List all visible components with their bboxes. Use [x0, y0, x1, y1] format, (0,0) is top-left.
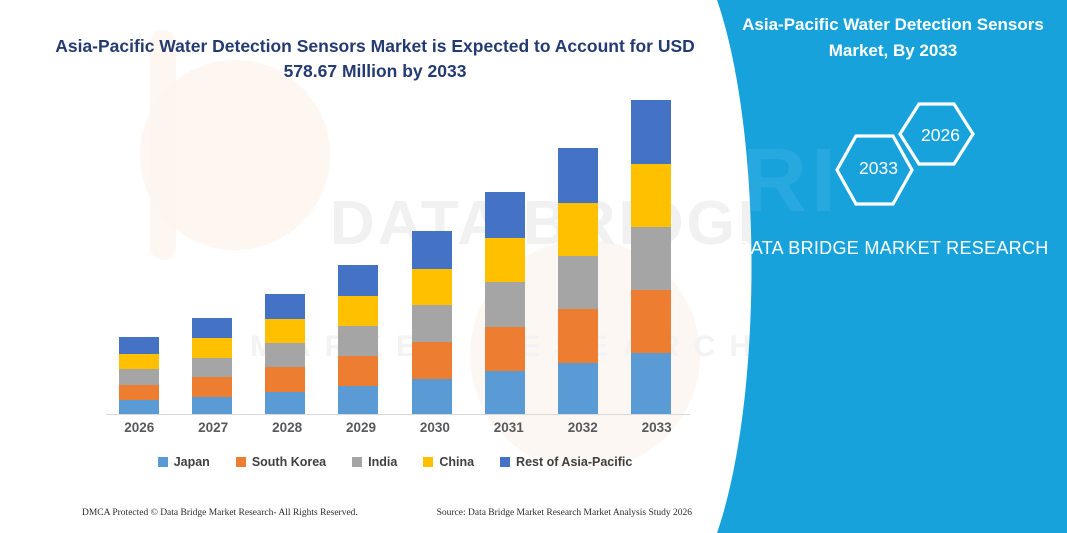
- bar-segment: [338, 296, 378, 326]
- stacked-bar: [412, 231, 452, 414]
- stacked-bar: [558, 148, 598, 414]
- legend-swatch-icon: [352, 457, 362, 467]
- bar-segment: [631, 353, 671, 414]
- bar-segment: [412, 305, 452, 342]
- bar-segment: [631, 100, 671, 164]
- bar-segment: [192, 397, 232, 414]
- stacked-bars: [106, 95, 684, 414]
- bar-segment: [485, 192, 525, 238]
- chart-infographic: DATA BRIDGE MARKET RESEARCH Asia-Pacific…: [0, 0, 1067, 533]
- bar-segment: [485, 371, 525, 414]
- bar-segment: [338, 386, 378, 414]
- bar-segment: [338, 265, 378, 296]
- hexagon-shapes: [811, 98, 1001, 218]
- chart-plot-area: [70, 95, 690, 415]
- x-axis-tick-label: 2028: [254, 420, 321, 435]
- bar-segment: [192, 358, 232, 377]
- legend-label: China: [439, 455, 474, 469]
- legend-label: Japan: [174, 455, 210, 469]
- bar-column: [106, 95, 172, 414]
- legend-label: Rest of Asia-Pacific: [516, 455, 632, 469]
- bar-segment: [558, 363, 598, 414]
- bar-column: [399, 95, 465, 414]
- bar-column: [252, 95, 318, 414]
- bar-segment: [338, 356, 378, 386]
- bar-segment: [412, 342, 452, 379]
- bar-column: [618, 95, 684, 414]
- stacked-bar: [192, 318, 232, 414]
- bar-segment: [558, 148, 598, 202]
- x-axis-tick-label: 2032: [549, 420, 616, 435]
- legend-swatch-icon: [236, 457, 246, 467]
- x-axis-labels: 20262027202820292030203120322033: [106, 420, 690, 435]
- bar-segment: [631, 164, 671, 227]
- footer: DMCA Protected © Data Bridge Market Rese…: [82, 508, 692, 518]
- bar-segment: [558, 203, 598, 256]
- bar-segment: [119, 369, 159, 385]
- chart-title: Asia-Pacific Water Detection Sensors Mar…: [55, 34, 695, 85]
- bar-segment: [338, 326, 378, 356]
- legend-label: South Korea: [252, 455, 326, 469]
- bar-column: [179, 95, 245, 414]
- bar-column: [472, 95, 538, 414]
- stacked-bar: [485, 192, 525, 414]
- footer-copyright: DMCA Protected © Data Bridge Market Rese…: [82, 508, 358, 518]
- bar-segment: [631, 290, 671, 353]
- legend-swatch-icon: [500, 457, 510, 467]
- x-axis-tick-label: 2029: [328, 420, 395, 435]
- legend-swatch-icon: [423, 457, 433, 467]
- bar-segment: [119, 337, 159, 353]
- hexagon-2026-label: 2026: [921, 125, 960, 146]
- x-axis-tick-label: 2031: [476, 420, 543, 435]
- x-axis-tick-label: 2033: [623, 420, 690, 435]
- bar-column: [545, 95, 611, 414]
- bar-segment: [631, 227, 671, 290]
- bar-segment: [265, 294, 305, 319]
- legend-item[interactable]: Japan: [158, 455, 210, 469]
- panel-title: Asia-Pacific Water Detection Sensors Mar…: [733, 12, 1053, 63]
- bar-segment: [558, 309, 598, 362]
- stacked-bar: [265, 294, 305, 414]
- legend-swatch-icon: [158, 457, 168, 467]
- bar-segment: [485, 282, 525, 327]
- bar-segment: [265, 319, 305, 343]
- stacked-bar: [338, 265, 378, 414]
- x-axis-tick-label: 2026: [106, 420, 173, 435]
- stacked-bar: [119, 337, 159, 414]
- bar-column: [325, 95, 391, 414]
- legend-item[interactable]: China: [423, 455, 474, 469]
- legend-label: India: [368, 455, 397, 469]
- bar-segment: [119, 400, 159, 414]
- bar-segment: [485, 327, 525, 372]
- bar-segment: [265, 343, 305, 367]
- x-axis-line: [106, 414, 690, 415]
- hexagon-2033-label: 2033: [859, 158, 898, 179]
- bar-segment: [412, 231, 452, 269]
- bar-segment: [192, 377, 232, 396]
- bar-segment: [119, 354, 159, 370]
- chart-legend: JapanSouth KoreaIndiaChinaRest of Asia-P…: [100, 455, 690, 469]
- bar-segment: [192, 318, 232, 338]
- bar-segment: [485, 238, 525, 283]
- x-axis-tick-label: 2027: [180, 420, 247, 435]
- legend-item[interactable]: Rest of Asia-Pacific: [500, 455, 632, 469]
- bar-segment: [119, 385, 159, 401]
- stacked-bar: [631, 100, 671, 414]
- x-axis-tick-label: 2030: [402, 420, 469, 435]
- bar-segment: [412, 269, 452, 306]
- bar-segment: [265, 367, 305, 391]
- panel-brand-name: DATA BRIDGE MARKET RESEARCH: [733, 235, 1053, 263]
- bar-segment: [412, 379, 452, 414]
- legend-item[interactable]: India: [352, 455, 397, 469]
- bar-segment: [265, 392, 305, 414]
- hexagon-group: 2026 2033: [811, 98, 1001, 218]
- bar-segment: [192, 338, 232, 357]
- footer-source: Source: Data Bridge Market Research Mark…: [437, 508, 692, 518]
- legend-item[interactable]: South Korea: [236, 455, 326, 469]
- right-brand-panel: BRI Asia-Pacific Water Detection Sensors…: [693, 0, 1067, 533]
- bar-segment: [558, 256, 598, 309]
